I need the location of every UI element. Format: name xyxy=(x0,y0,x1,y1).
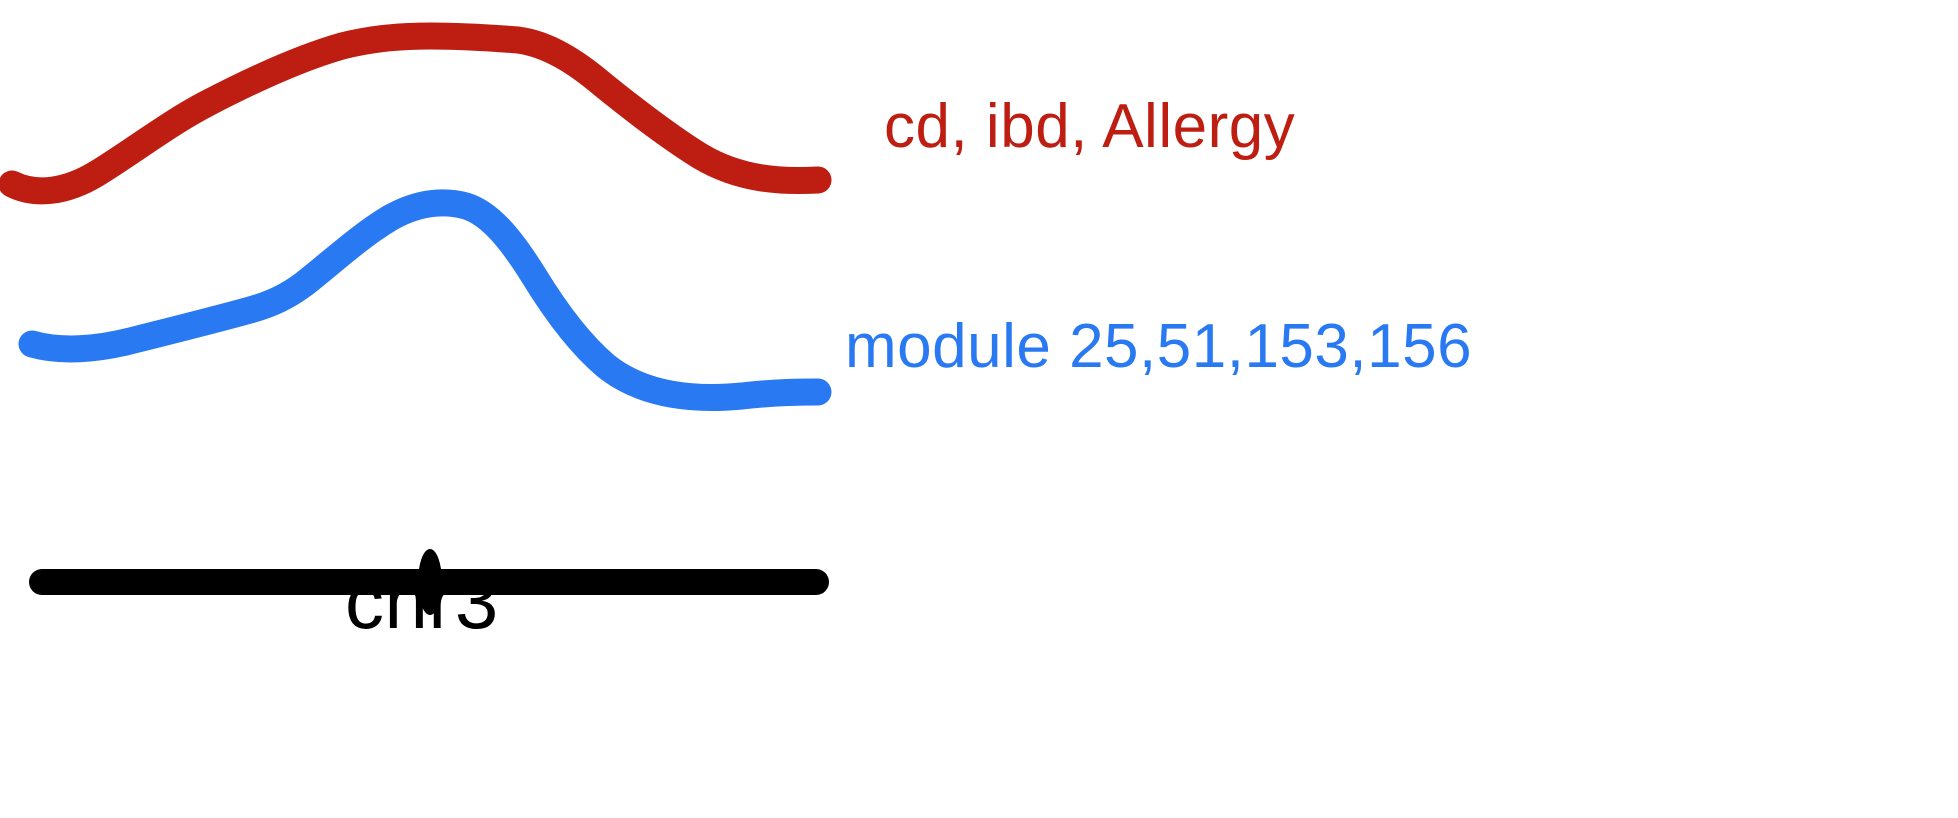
red-association-trace xyxy=(12,36,818,191)
red-trace-label: cd, ibd, Allergy xyxy=(884,96,1295,158)
chromosome-locus-figure: cd, ibd, Allergy module 25,51,153,156 ch… xyxy=(0,0,1958,818)
chromosome-axis-label: chr3 xyxy=(345,562,499,640)
blue-module-trace xyxy=(32,203,818,398)
blue-trace-label: module 25,51,153,156 xyxy=(845,316,1472,378)
